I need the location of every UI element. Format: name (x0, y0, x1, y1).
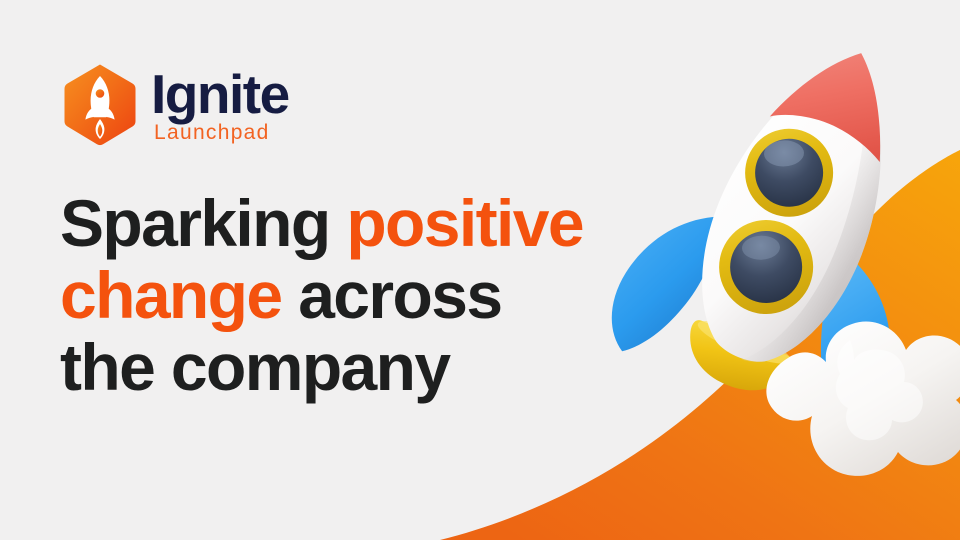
brand-name: Ignite (151, 69, 289, 120)
brand-tagline: Launchpad (154, 122, 289, 143)
headline-segment: across (281, 258, 501, 332)
headline-line-2: change across (60, 260, 660, 332)
headline-segment-accent: positive (346, 186, 583, 260)
headline-segment: Sparking (60, 186, 346, 260)
brand-wordmark: Ignite Launchpad (151, 67, 289, 143)
headline-line-3: the company (60, 332, 660, 404)
headline-segment: the company (60, 330, 450, 404)
slide-canvas: Ignite Launchpad Sparking positive chang… (0, 0, 960, 540)
headline-segment-accent: change (60, 258, 281, 332)
headline: Sparking positive change across the comp… (60, 188, 660, 404)
headline-line-1: Sparking positive (60, 188, 660, 260)
brand-logo-lockup[interactable]: Ignite Launchpad (62, 63, 289, 147)
hexagon-rocket-logo-icon (62, 63, 138, 147)
